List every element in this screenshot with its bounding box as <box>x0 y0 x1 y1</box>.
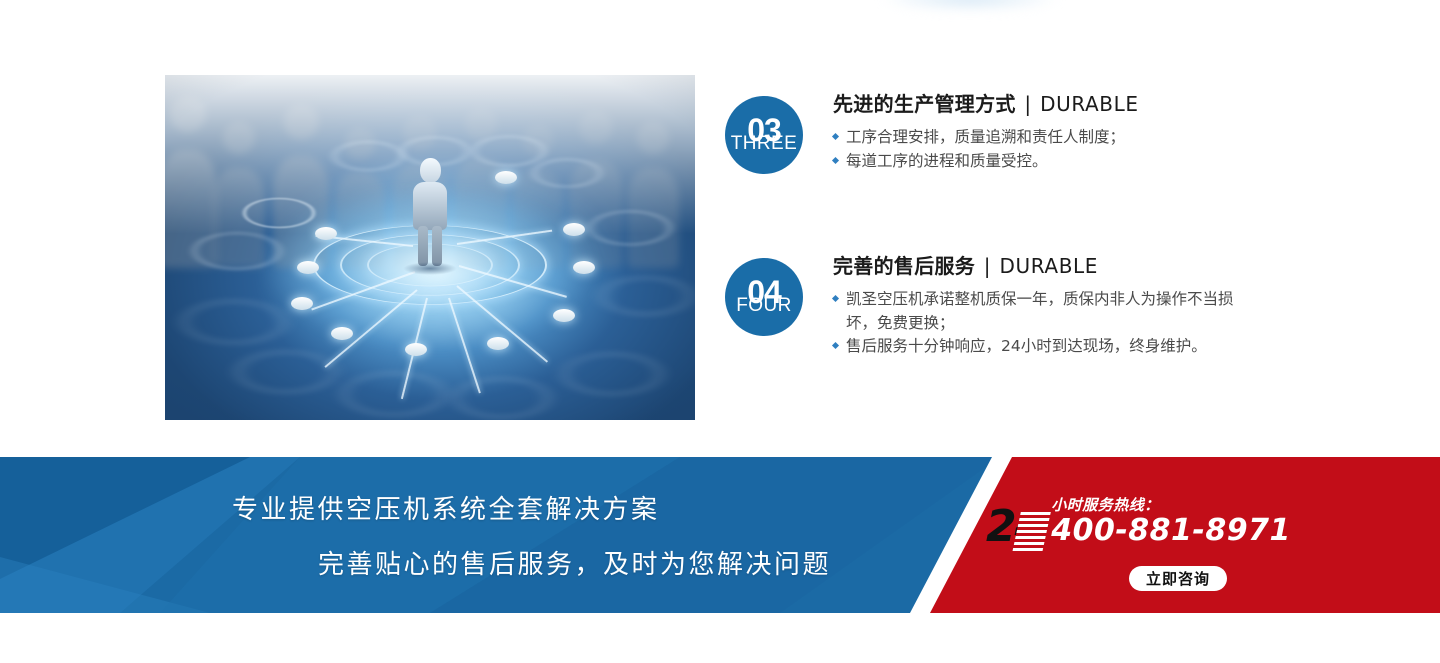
feature-bullets-04: 凯圣空压机承诺整机质保一年，质保内非人为操作不当损坏，免费更换； 售后服务十分钟… <box>833 288 1261 359</box>
feature-title-03: 先进的生产管理方式 | DURABLE <box>833 92 1139 117</box>
hotline-block: 24 小时服务热线： 400-881-8971 <box>986 498 1291 547</box>
feature-bullet-text: 工序合理安排，质量追溯和责任人制度； <box>846 128 1125 146</box>
feature-text-04: 完善的售后服务 | DURABLE 凯圣空压机承诺整机质保一年，质保内非人为操作… <box>833 254 1261 359</box>
hero-network-image <box>165 75 695 420</box>
feature-bullets-03: 工序合理安排，质量追溯和责任人制度； 每道工序的进程和质量受控。 <box>833 126 1139 173</box>
feature-title-04: 完善的售后服务 | DURABLE <box>833 254 1261 279</box>
badge-number-03: 03 THREE <box>725 96 803 174</box>
hotline-phone-number: 400-881-8971 <box>1051 516 1291 546</box>
hotline-24-logo: 24 <box>986 507 1045 547</box>
badge-number-word: THREE <box>731 134 797 153</box>
feature-bullet: 凯圣空压机承诺整机质保一年，质保内非人为操作不当损坏，免费更换； <box>833 288 1261 335</box>
feature-item-03: 03 THREE 先进的生产管理方式 | DURABLE 工序合理安排，质量追溯… <box>725 92 1285 174</box>
badge-number-04: 04 FOUR <box>725 258 803 336</box>
consult-now-button[interactable]: 立即咨询 <box>1129 566 1227 591</box>
slogan-line-2: 完善贴心的售后服务，及时为您解决问题 <box>318 544 940 581</box>
feature-title-en: DURABLE <box>1000 254 1099 278</box>
feature-title-separator: | <box>984 254 991 278</box>
feature-bullet-text: 售后服务十分钟响应，24小时到达现场，终身维护。 <box>846 337 1207 355</box>
feature-bullet: 售后服务十分钟响应，24小时到达现场，终身维护。 <box>833 335 1261 359</box>
feature-title-separator: | <box>1024 92 1031 116</box>
diamond-bullet-icon <box>832 342 839 349</box>
hotline-label: 小时服务热线： <box>1051 498 1291 513</box>
feature-list: 03 THREE 先进的生产管理方式 | DURABLE 工序合理安排，质量追溯… <box>725 92 1285 359</box>
diamond-bullet-icon <box>832 157 839 164</box>
feature-title-cn: 先进的生产管理方式 <box>833 92 1016 116</box>
slogan-line-1: 专业提供空压机系统全套解决方案 <box>232 489 940 526</box>
feature-title-en: DURABLE <box>1040 92 1139 116</box>
feature-title-cn: 完善的售后服务 <box>833 254 975 278</box>
photo-vignette <box>165 75 695 420</box>
banner-slogan: 专业提供空压机系统全套解决方案 完善贴心的售后服务，及时为您解决问题 <box>0 457 940 613</box>
top-edge-smudge <box>880 0 1060 12</box>
feature-bullet-text: 每道工序的进程和质量受控。 <box>846 152 1048 170</box>
badge-number-word: FOUR <box>736 296 791 315</box>
feature-bullet: 每道工序的进程和质量受控。 <box>833 150 1139 174</box>
feature-bullet: 工序合理安排，质量追溯和责任人制度； <box>833 126 1139 150</box>
feature-text-03: 先进的生产管理方式 | DURABLE 工序合理安排，质量追溯和责任人制度； 每… <box>833 92 1139 173</box>
feature-item-04: 04 FOUR 完善的售后服务 | DURABLE 凯圣空压机承诺整机质保一年，… <box>725 254 1285 359</box>
feature-bullet-text: 凯圣空压机承诺整机质保一年，质保内非人为操作不当损坏，免费更换； <box>846 290 1234 332</box>
diamond-bullet-icon <box>832 133 839 140</box>
diamond-bullet-icon <box>832 295 839 302</box>
